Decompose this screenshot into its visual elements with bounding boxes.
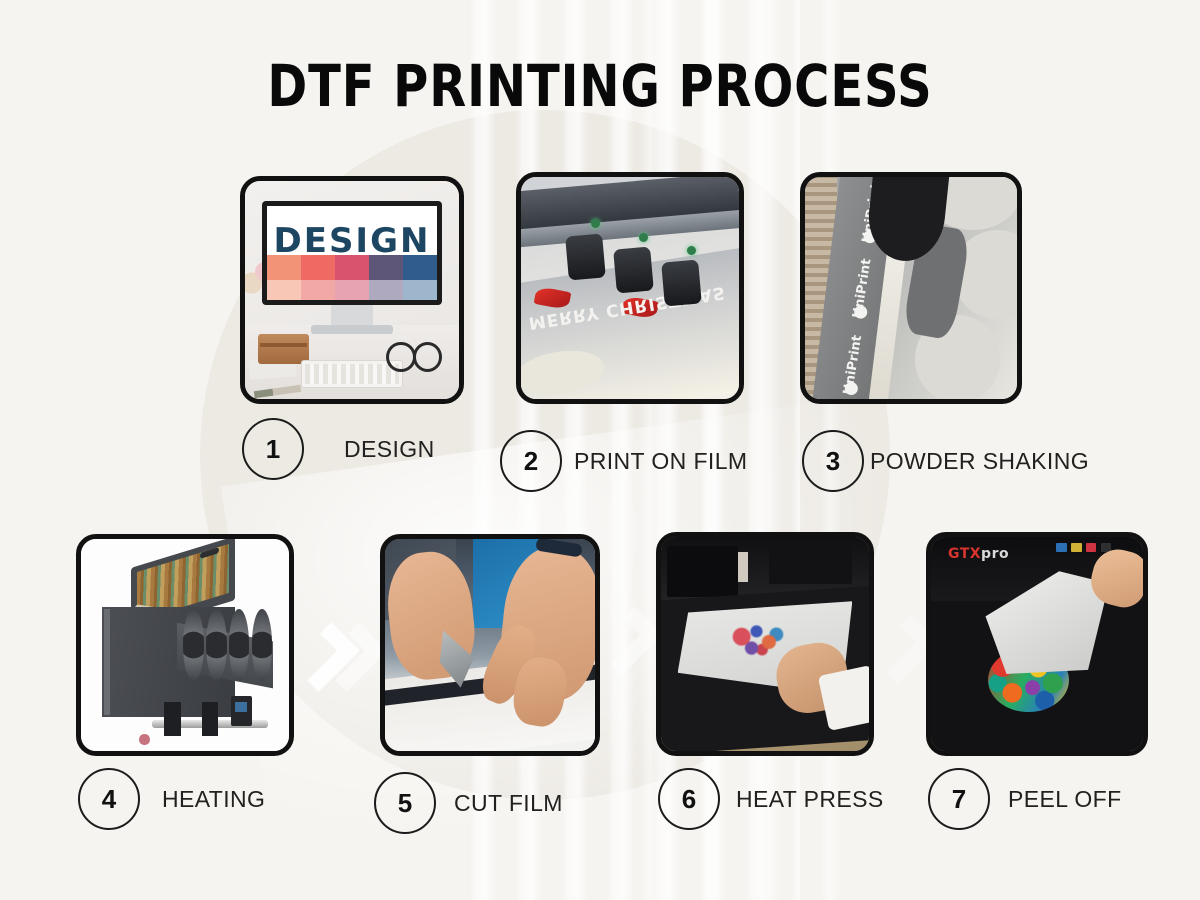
print-head [613,247,654,294]
step-number-badge: 3 [802,430,864,492]
step-image-print-on-film: MERRY CHRISTMAS [516,172,744,404]
step-number-badge: 7 [928,768,990,830]
step-1: 1 DESIGN [242,418,435,480]
status-led-icon [687,246,696,255]
step-4: 4 HEATING [78,768,265,830]
printer-brand-label: GTXpro [948,546,1009,562]
oven-side-panel [104,609,110,715]
shirt-cuff [818,665,874,731]
heat-press-photo [661,537,869,751]
heating-oven-photo [81,539,289,751]
rewind-mount [164,702,181,736]
print-head [661,260,702,307]
cooling-fan-icon [183,609,204,681]
press-upper-arm [667,546,738,597]
step-label: HEATING [162,786,265,813]
step-image-heat-press [656,532,874,756]
ink-cartridge-magenta [1086,543,1097,552]
step-label: HEAT PRESS [736,786,884,813]
cooling-fan-icon [252,609,273,681]
monitor-bezel: DESIGN [262,201,442,306]
step-image-powder-shaking: UniPrint UniPrint UniPrint [800,172,1022,404]
step-number-badge: 6 [658,768,720,830]
press-upper-arm-right [769,541,852,584]
flow-arrow-icon [318,622,387,691]
flow-arrow-icon [290,622,359,691]
step-label: PRINT ON FILM [574,448,747,475]
step-6: 6 HEAT PRESS [658,768,884,830]
step-label: CUT FILM [454,790,563,817]
cut-film-photo [385,539,595,751]
step-image-cut-film [380,534,600,756]
rewind-motor [231,696,252,726]
step-image-design: DESIGN [240,176,464,404]
ink-cartridge-yellow [1071,543,1082,552]
monitor-base [311,325,392,334]
printer-brand-secondary: pro [981,546,1009,562]
print-on-film-photo: MERRY CHRISTMAS [521,177,739,399]
step-image-heating [76,534,294,756]
ink-cartridge-cyan [1056,543,1067,552]
print-head [565,233,606,280]
step-3: 3 POWDER SHAKING [802,430,1089,492]
step-number-badge: 4 [78,768,140,830]
eyeglasses-decor [386,342,442,366]
step-label: DESIGN [344,436,435,463]
design-workstation-photo: DESIGN [245,181,459,399]
printer-brand-primary: GTX [948,546,981,562]
step-number-badge: 5 [374,772,436,834]
peel-off-photo: GTXpro [931,537,1143,751]
step-number-badge: 2 [500,430,562,492]
uniprint-logo: UniPrint [850,252,876,326]
step-label: PEEL OFF [1008,786,1122,813]
status-led-icon [639,233,648,242]
step-number-badge: 1 [242,418,304,480]
colour-palette [267,255,437,300]
caster-wheel [139,734,149,745]
artwork-white-blob [516,345,608,401]
rewind-mount [202,702,219,736]
powder-shaking-photo: UniPrint UniPrint UniPrint [805,177,1017,399]
printed-artwork [728,623,790,662]
uniprint-logo: UniPrint [840,328,866,402]
step-label: POWDER SHAKING [870,448,1089,475]
step-5: 5 CUT FILM [374,772,563,834]
status-led-icon [591,219,600,228]
page-title: DTF PRINTING PROCESS [48,52,1152,120]
cooling-fan-icon [206,609,227,681]
step-7: 7 PEEL OFF [928,768,1122,830]
step-2: 2 PRINT ON FILM [500,430,747,492]
step-image-peel-off: GTXpro [926,532,1148,756]
monitor-stand [331,305,374,327]
flow-arrow-icon [593,606,662,675]
